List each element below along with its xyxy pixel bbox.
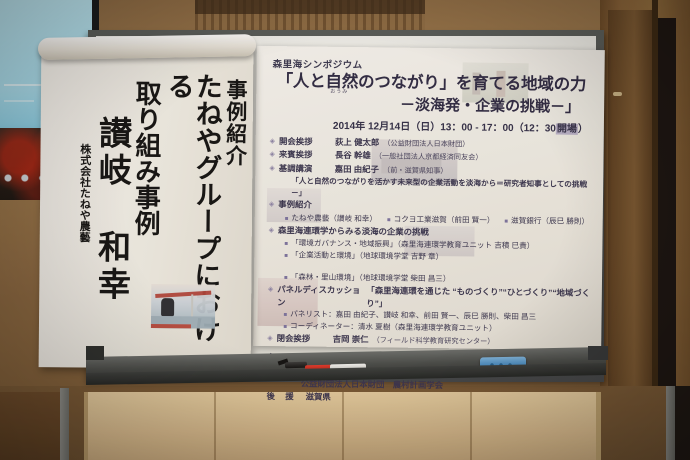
section-panel-row: ◈ パネルディスカッション 「森里海連環を通じた “ものづくり”“ひとづくり”“… <box>268 283 594 312</box>
panel-theme: 「森里海連環を通じた “ものづくり”“ひとづくり”“地域づくり”」 <box>366 284 594 312</box>
subtitle-furigana: おうみ <box>330 88 348 95</box>
poster-title: 「人と自然のつながり」を育てる地域の力 <box>266 72 596 95</box>
poster-eyebrow: 森里海シンポジウム <box>273 56 597 74</box>
case-item-label: 滋賀銀行（辰巳 勝則） <box>511 215 589 227</box>
case-item: ■ 滋賀銀行（辰巳 勝則） <box>504 215 589 228</box>
case-item: ■ たねや農藝（讃岐 和幸） <box>285 212 377 225</box>
square-bullet-icon: ■ <box>504 218 508 227</box>
dark-corner-gap <box>658 18 676 400</box>
program-name: 荻上 健太郎 <box>335 136 379 149</box>
program-affiliation: （公益財団法人日本財団） <box>383 138 469 150</box>
floor-shadow <box>675 386 690 460</box>
square-bullet-icon: ■ <box>283 312 287 321</box>
program-label: 来賓挨拶 <box>279 149 331 162</box>
program-poster[interactable]: 森里海シンポジウム 「人と自然のつながり」を育てる地域の力 おうみ －淡海発・企… <box>253 46 605 350</box>
presenter-name: 讃岐 和幸 <box>92 116 128 304</box>
case-item-label: コクヨ工業滋賀（前田 賢一） <box>394 213 495 226</box>
case-study-poster[interactable]: 事例紹介 たねやグループにおける 取り組み事例 讃岐 和幸 株式会社たねや農藝 <box>39 47 254 369</box>
square-bullet-icon: ■ <box>284 274 288 283</box>
closing-affiliation: （フィールド科学教育研究センター） <box>372 336 494 348</box>
closing-label: 閉会挨拶 <box>277 333 329 346</box>
event-datetime-text: 2014年 12月14日（日）13：00 - 17：00（12：30 <box>333 121 556 135</box>
event-datetime-tail: ） <box>578 124 588 135</box>
case-item-label: たねや農藝（讃岐 和幸） <box>291 212 377 224</box>
diamond-bullet-icon: ◈ <box>270 137 276 148</box>
subtitle-text: －淡海発・企業の挑戦－」 <box>400 97 580 116</box>
support-value: 滋賀県 <box>306 391 331 404</box>
closing-name: 吉岡 崇仁 <box>333 333 369 346</box>
diamond-bullet-icon: ◈ <box>268 285 274 296</box>
section-renkan-label: 森里海連環学からみる淡海の企業の挑戦 <box>278 224 429 238</box>
photo-scene: 森里海シンポジウム 「人と自然のつながり」を育てる地域の力 おうみ －淡海発・企… <box>0 0 690 460</box>
panel-right-edge <box>596 392 601 460</box>
poster-top-roll <box>38 34 256 60</box>
diamond-bullet-icon: ◈ <box>267 335 273 346</box>
program-affiliation: （一般社団法人京都経済同友会） <box>375 152 483 164</box>
square-bullet-icon: ■ <box>285 215 289 224</box>
poster-heading: 事例紹介 <box>224 79 247 167</box>
doors-open-badge: 開場 <box>556 124 578 135</box>
section-panel-label: パネルディスカッション <box>277 283 362 309</box>
wall-top-shadow <box>195 0 425 14</box>
door-handle[interactable] <box>613 92 622 96</box>
square-bullet-icon: ■ <box>387 216 391 225</box>
whiteboard-corner-left <box>86 346 104 360</box>
poster-subtitle: おうみ －淡海発・企業の挑戦－」 <box>266 92 580 117</box>
event-datetime: 2014年 12月14日（日）13：00 - 17：00（12：30開場） <box>266 116 588 135</box>
square-bullet-icon: ■ <box>284 240 288 249</box>
diamond-bullet-icon: ◈ <box>269 151 275 162</box>
program-label: 基調講演 <box>279 162 331 175</box>
diamond-bullet-icon: ◈ <box>269 164 275 175</box>
program-list: ◈ 開会挨拶 荻上 健太郎 （公益財団法人日本財団） ◈ 来賓挨拶 長谷 幹雄 … <box>263 135 596 350</box>
renkan-item: ■ 「企業活動と環境」（地球環境学堂 吉野 章） <box>284 249 443 263</box>
program-affiliation: （前・滋賀県知事） <box>383 165 448 177</box>
diamond-bullet-icon: ◈ <box>269 200 275 211</box>
lower-wall-left-corner <box>0 392 60 460</box>
whiteboard-corner-right <box>588 346 608 360</box>
program-name: 長谷 幹雄 <box>335 149 371 162</box>
whiteboard-stand-right-leg <box>666 386 675 460</box>
door-leaf[interactable] <box>608 10 652 400</box>
diamond-bullet-icon: ◈ <box>269 226 275 237</box>
field-work-photo <box>151 284 215 329</box>
black-marker[interactable] <box>285 362 307 368</box>
section-cases-label: 事例紹介 <box>278 198 330 211</box>
program-name: 嘉田 由紀子 <box>335 163 379 176</box>
screen-text-line-2 <box>4 100 34 102</box>
program-label: 開会挨拶 <box>279 135 331 148</box>
support-label: 後 援 <box>266 390 297 403</box>
square-bullet-icon: ■ <box>283 324 287 333</box>
poster-line-2: 取り組み事例 <box>132 80 161 236</box>
square-bullet-icon: ■ <box>284 252 288 261</box>
renkan-item-label: 「企業活動と環境」（地球環境学堂 吉野 章） <box>291 250 443 263</box>
company-name: 株式会社たねや農藝 <box>77 143 89 242</box>
whiteboard-stand-left-leg <box>60 388 69 460</box>
renkan-row-pair: ■ 「企業活動と環境」（地球環境学堂 吉野 章） ■ 「森林・里山環境」（地球環… <box>284 249 594 287</box>
